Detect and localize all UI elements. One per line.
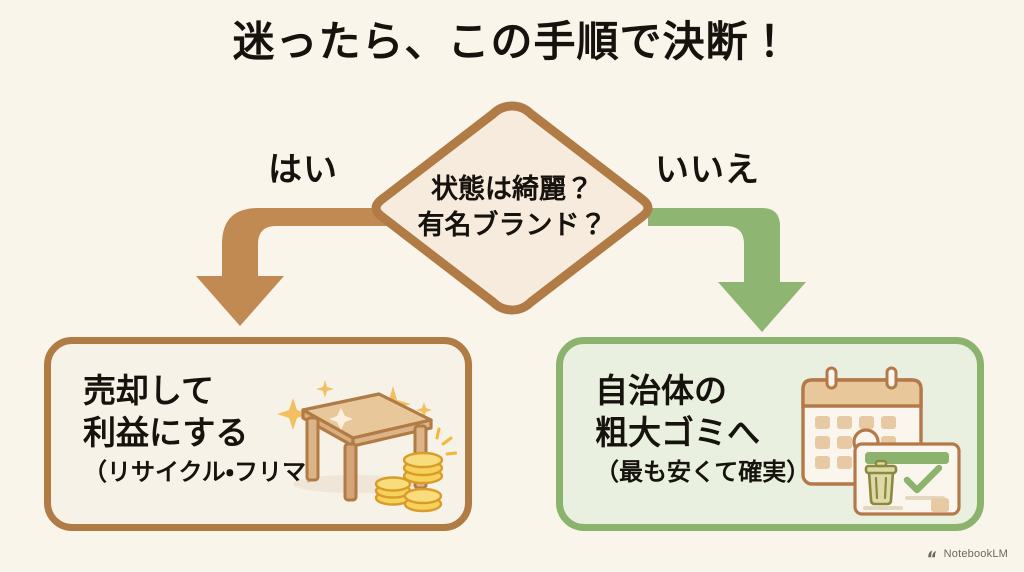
watermark-label: NotebookLM (944, 548, 1008, 560)
arrow-yes-branch (190, 190, 390, 330)
table-with-coins-icon (267, 358, 457, 523)
slide-canvas: 迷ったら、この手順で決断！ 状態は綺麗？ 有名ブランド？ はい いいえ 売却して… (0, 0, 1024, 572)
outcome-box-dispose: 自治体の 粗大ゴミへ （最も安くて確実） (556, 337, 984, 531)
diamond-shape-icon (363, 96, 661, 320)
arrow-yes-icon (190, 190, 390, 330)
calendar-with-trash-card-icon (779, 358, 969, 523)
page-title: 迷ったら、この手順で決断！ (0, 18, 1024, 66)
arrow-no-branch (648, 190, 848, 338)
branch-label-no: いいえ (655, 142, 760, 191)
decision-node: 状態は綺麗？ 有名ブランド？ (363, 96, 661, 320)
branch-label-yes: はい (268, 142, 338, 191)
arrow-no-icon (648, 190, 848, 338)
notebooklm-icon (927, 548, 939, 560)
watermark: NotebookLM (927, 548, 1008, 560)
outcome-box-sell: 売却して 利益にする （リサイクル・フリマ） (44, 337, 472, 531)
